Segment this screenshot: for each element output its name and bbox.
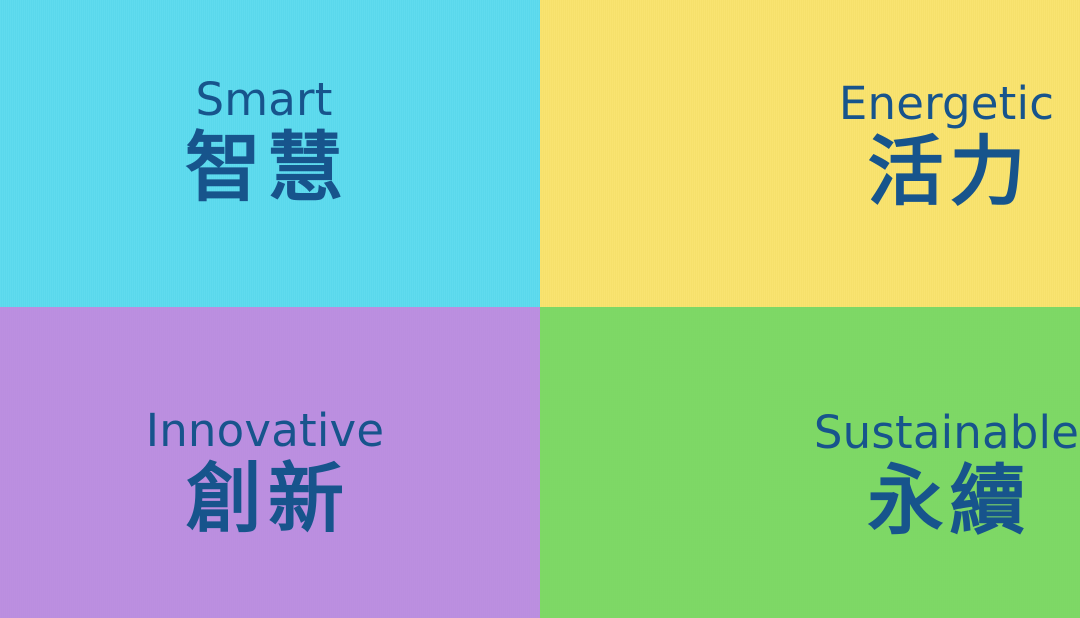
- english-label-energetic: Energetic: [839, 81, 1054, 126]
- label-stack-innovative: Innovative 創新: [146, 408, 385, 537]
- english-label-sustainable: Sustainable: [814, 410, 1079, 455]
- chinese-label-energetic: 活力: [861, 134, 1031, 210]
- chinese-label-innovative: 創新: [180, 461, 350, 537]
- label-stack-sustainable: Sustainable 永續: [814, 410, 1079, 539]
- quadrant-smart: Smart 智慧: [0, 0, 540, 307]
- chinese-label-smart: 智慧: [179, 130, 349, 206]
- quadrant-sustainable: Sustainable 永續: [540, 307, 1080, 618]
- chinese-label-sustainable: 永續: [862, 463, 1032, 539]
- label-stack-energetic: Energetic 活力: [839, 81, 1054, 210]
- label-stack-smart: Smart 智慧: [179, 77, 349, 206]
- english-label-innovative: Innovative: [146, 408, 385, 453]
- quadrant-innovative: Innovative 創新: [0, 307, 540, 618]
- english-label-smart: Smart: [195, 77, 332, 122]
- values-grid: Smart 智慧 Energetic 活力 Innovative 創新 Sust…: [0, 0, 1080, 618]
- quadrant-energetic: Energetic 活力: [540, 0, 1080, 307]
